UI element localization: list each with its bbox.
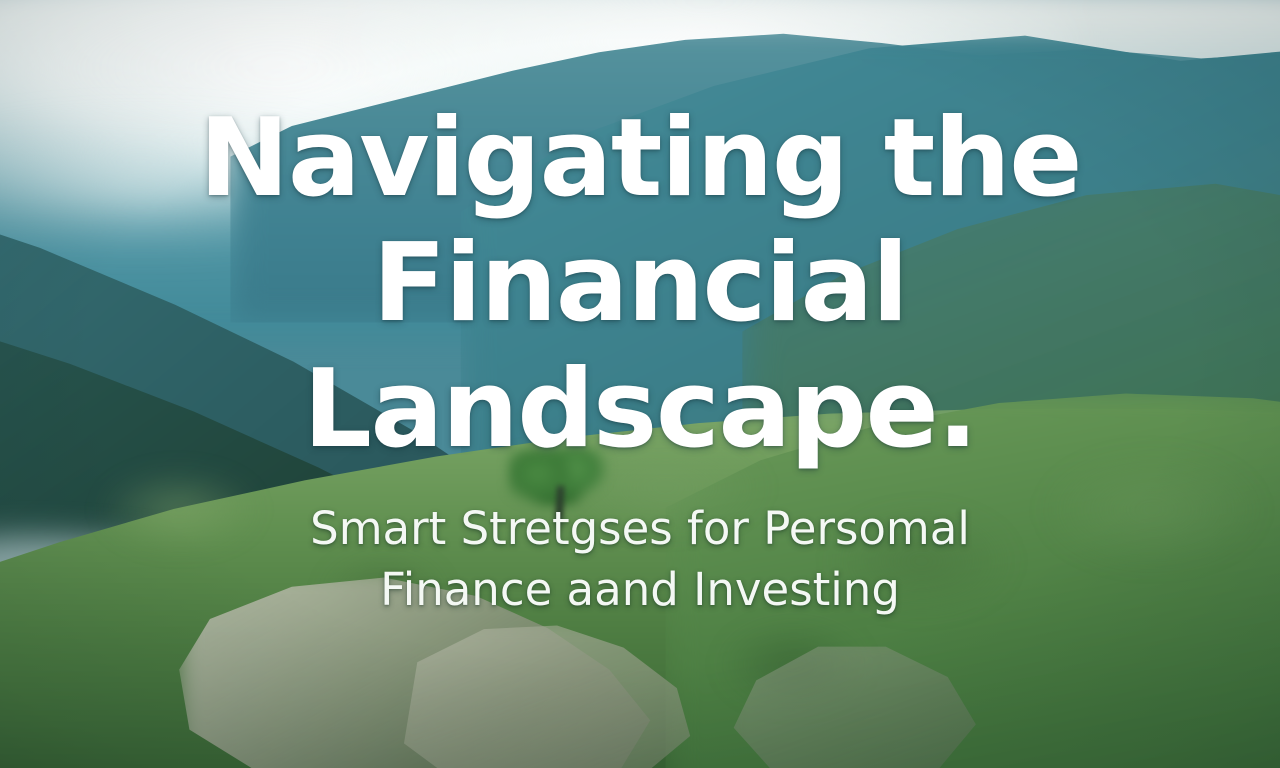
headline-line-2: Financial (199, 221, 1081, 346)
page-title: Navigating the Financial Landscape. (199, 96, 1081, 472)
headline-line-3: Landscape. (199, 347, 1081, 472)
subhead-line-1: Smart Stretgses for Persomal (310, 498, 970, 559)
poster-canvas: Navigating the Financial Landscape. Smar… (0, 0, 1280, 768)
headline-line-1: Navigating the (199, 96, 1081, 221)
page-subtitle: Smart Stretgses for Persomal Finance aan… (310, 498, 970, 620)
text-overlay: Navigating the Financial Landscape. Smar… (0, 0, 1280, 768)
subhead-line-2: Finance aand Investing (310, 559, 970, 620)
